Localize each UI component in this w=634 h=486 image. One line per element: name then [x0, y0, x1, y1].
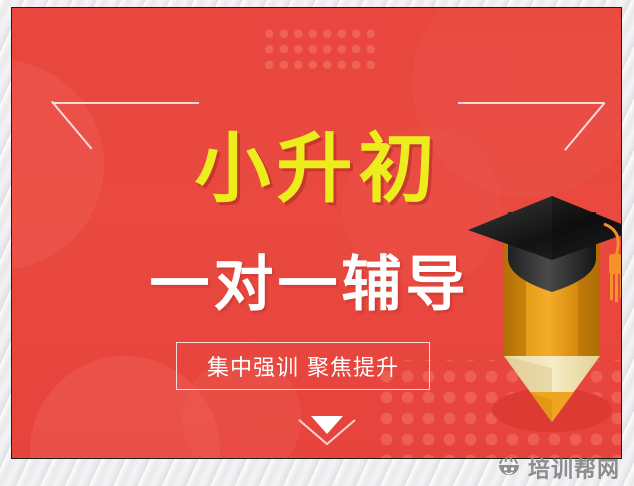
- dot-grid-pattern-top-right: [259, 22, 381, 74]
- corner-bracket-right-horizontal: [458, 102, 604, 104]
- page-title-main: 小升初: [12, 128, 622, 210]
- watermark: 培训帮网: [497, 456, 620, 485]
- sun-face-logo-icon: [497, 456, 521, 485]
- tagline-text: 集中强训 聚焦提升: [207, 350, 399, 382]
- promo-banner: 小升初 一对一辅导 集中强训 聚焦提升: [11, 7, 622, 459]
- watermark-text: 培训帮网: [528, 458, 620, 484]
- page-title-sub: 一对一辅导: [12, 252, 622, 318]
- chevron-down-icon[interactable]: [295, 412, 359, 448]
- corner-bracket-left-horizontal: [52, 102, 199, 104]
- tagline-box: 集中强训 聚焦提升: [176, 342, 430, 390]
- page-root: 小升初 一对一辅导 集中强训 聚焦提升: [0, 0, 634, 486]
